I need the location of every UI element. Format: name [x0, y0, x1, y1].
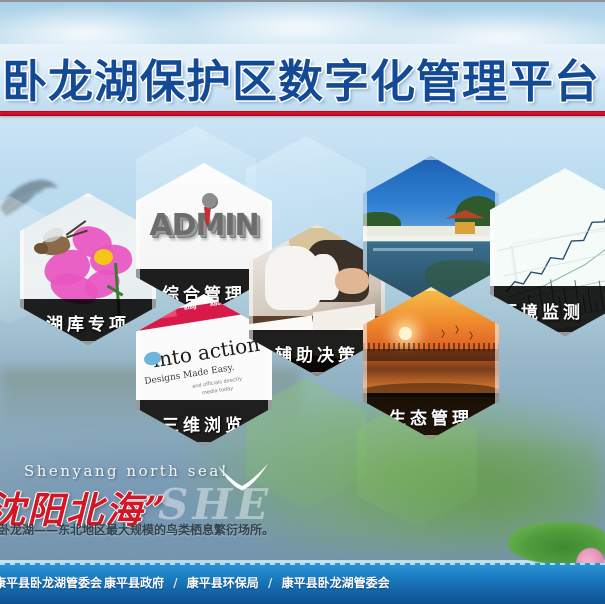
footer-link-epb[interactable]: 康平县环保局 [187, 576, 259, 590]
footer-top-dashed-line [0, 563, 605, 565]
site-description: 卧龙湖——东北地区最大规模的鸟类栖息繁衍场所。 [0, 521, 274, 538]
footer-link-government[interactable]: 康平县政府 [104, 576, 164, 590]
hexagon-environment-monitoring[interactable]: 环境监测 [490, 168, 605, 336]
footer-links: 康平县政府 / 康平县环保局 / 康平县卧龙湖管委会 [104, 574, 390, 591]
footer-link-committee[interactable]: 康平县卧龙湖管委会 [282, 576, 390, 590]
footer-bar: 康平县卧龙湖管委会 康平县政府 / 康平县环保局 / 康平县卧龙湖管委会 [0, 563, 605, 604]
platform-homepage: 卧龙湖保护区数字化管理平台 [0, 0, 605, 604]
admin-artwork-text: ADMIN [149, 208, 258, 243]
hexagon-label: 环境监测 [490, 286, 605, 336]
hexagon-label: 湖库专项 [20, 299, 156, 345]
nav-item: Cor [240, 296, 250, 303]
footer-separator: / [168, 576, 182, 590]
footer-owner: 康平县卧龙湖管委会 [0, 574, 102, 591]
footer-separator: / [263, 576, 277, 590]
english-slogan: Shenyang north sea! [24, 462, 229, 480]
